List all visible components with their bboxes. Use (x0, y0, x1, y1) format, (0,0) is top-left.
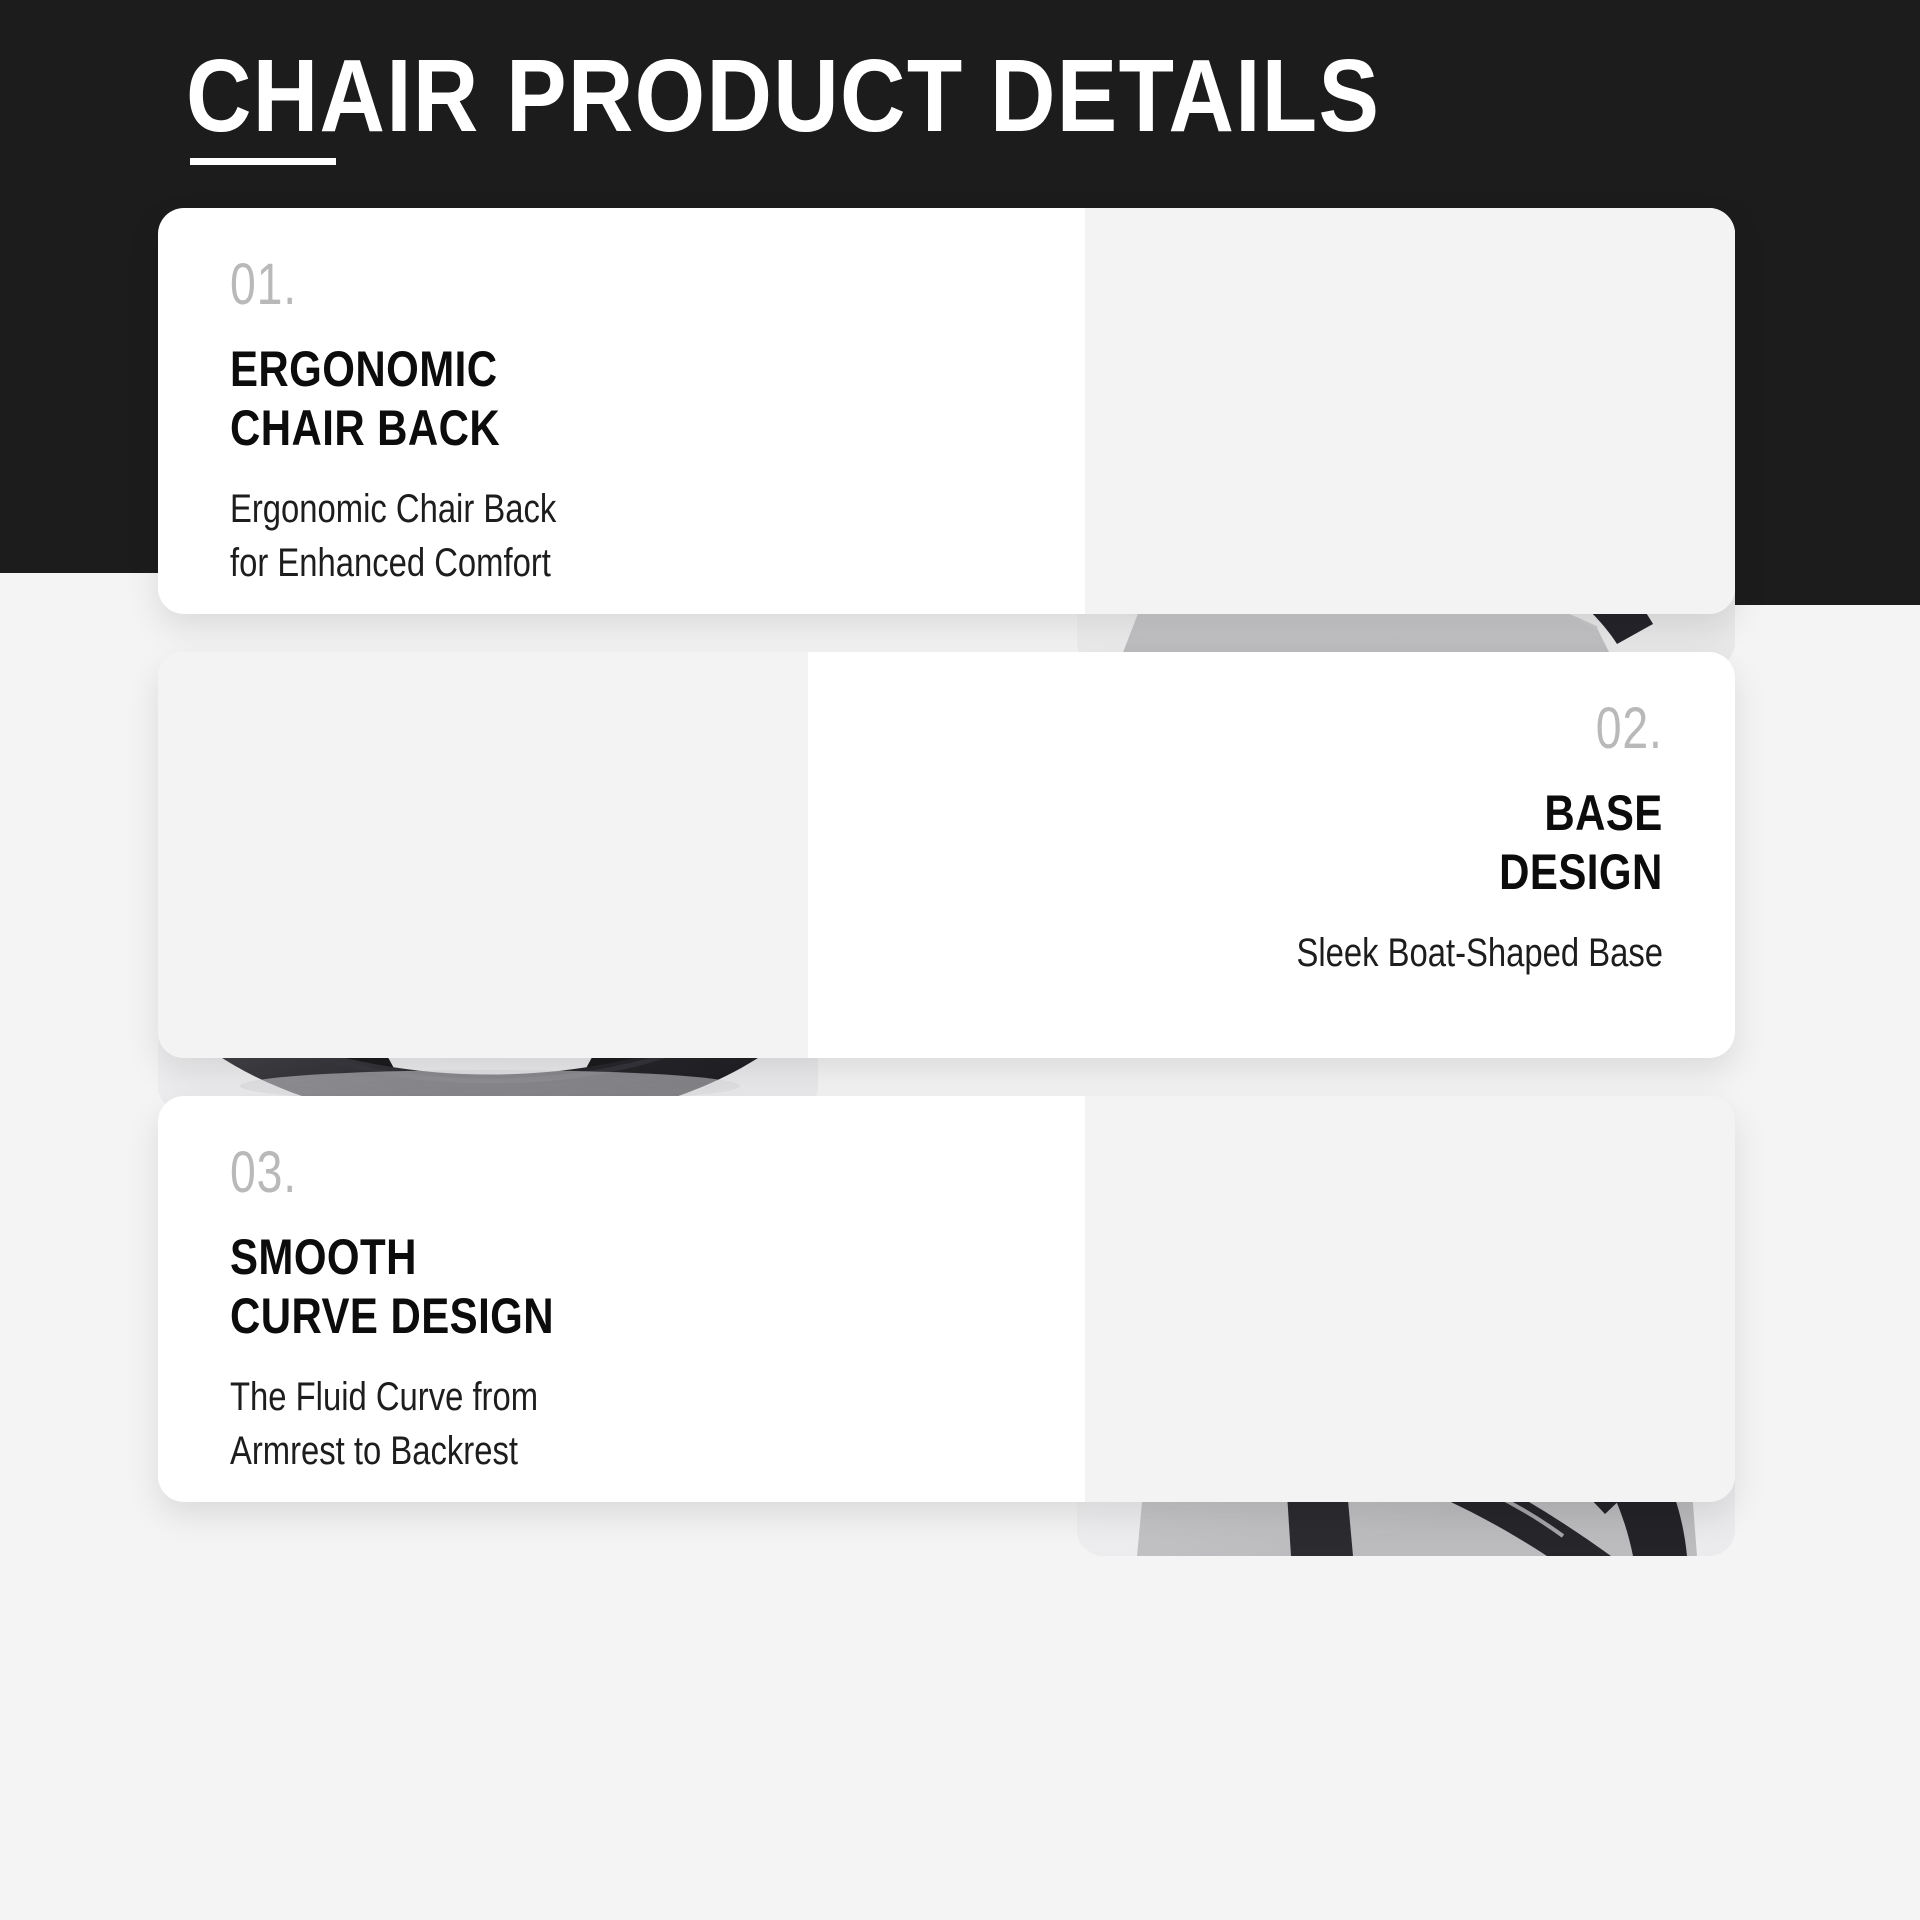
detail-card-3-photo (1085, 1096, 1735, 1502)
detail-card-2-photo (158, 652, 808, 1058)
page-title: CHAIR PRODUCT DETAILS (186, 44, 1380, 147)
detail-card-3-description: The Fluid Curve from Armrest to Backrest (230, 1371, 538, 1478)
detail-card-3-text: 03. SMOOTH CURVE DESIGN The Fluid Curve … (158, 1096, 1085, 1502)
detail-card-2-description: Sleek Boat-Shaped Base (1296, 927, 1663, 981)
detail-card-3-heading: SMOOTH CURVE DESIGN (230, 1228, 554, 1345)
title-underline-rule (190, 158, 336, 165)
detail-card-1-photo (1085, 208, 1735, 614)
detail-card-2-heading: BASE DESIGN (1499, 784, 1663, 901)
detail-card-1: 01. ERGONOMIC CHAIR BACK Ergonomic Chair… (158, 208, 1735, 614)
detail-card-2-text: 02. BASE DESIGN Sleek Boat-Shaped Base (808, 652, 1735, 1058)
detail-card-1-heading: ERGONOMIC CHAIR BACK (230, 340, 500, 457)
detail-card-2-number: 02. (1596, 700, 1663, 758)
detail-card-2: 02. BASE DESIGN Sleek Boat-Shaped Base (158, 652, 1735, 1058)
detail-card-1-number: 01. (230, 256, 297, 314)
detail-card-1-description: Ergonomic Chair Back for Enhanced Comfor… (230, 483, 556, 590)
detail-card-3-number: 03. (230, 1144, 297, 1202)
detail-card-1-text: 01. ERGONOMIC CHAIR BACK Ergonomic Chair… (158, 208, 1085, 614)
detail-card-3: 03. SMOOTH CURVE DESIGN The Fluid Curve … (158, 1096, 1735, 1502)
